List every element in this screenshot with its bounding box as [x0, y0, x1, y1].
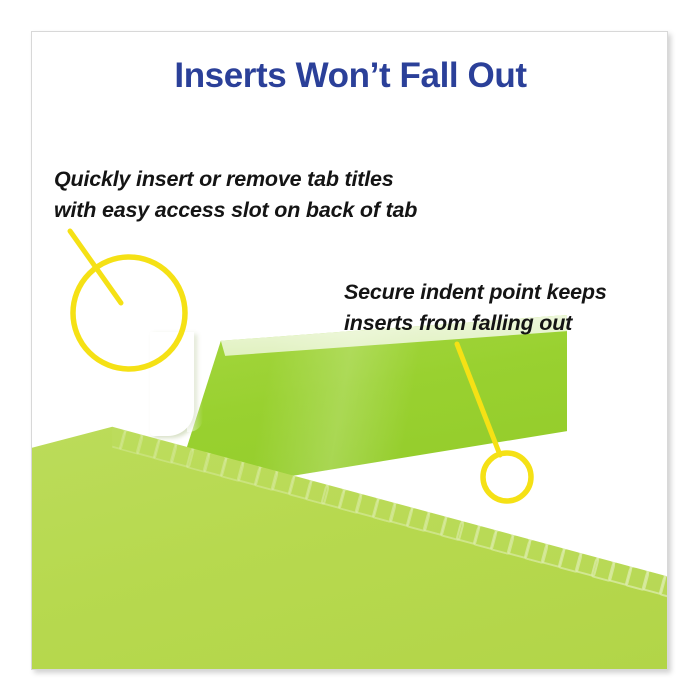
callout-caption-slot: Quickly insert or remove tab titles with… [54, 164, 417, 225]
product-feature-figure: Inserts Won’t Fall Out Quickly insert or… [0, 0, 700, 700]
figure-card: Inserts Won’t Fall Out Quickly insert or… [31, 31, 668, 670]
tab-slot-inner-shadow [187, 332, 203, 432]
page-title: Inserts Won’t Fall Out [32, 58, 668, 95]
product-photo [32, 32, 668, 670]
callout-caption-indent: Secure indent point keeps inserts from f… [344, 277, 607, 338]
